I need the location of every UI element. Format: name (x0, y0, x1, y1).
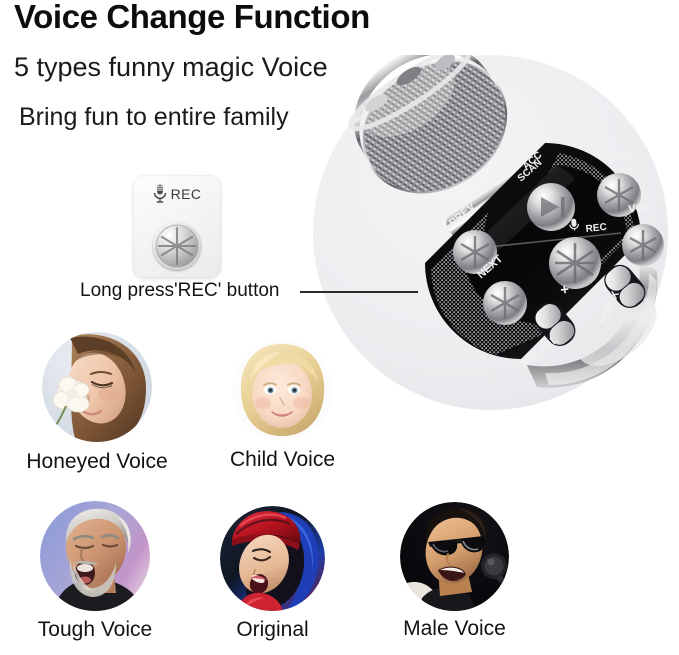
mic-button-next (483, 281, 527, 325)
woman-smelling-white-flower-photo (42, 332, 152, 442)
long-press-caption: Long press'REC' button (80, 280, 279, 302)
woman-red-cap-singing-photo (220, 506, 325, 611)
label-rec: REC (585, 222, 607, 235)
microphone-illustration: PREV NEXT ACC SCAN REC VOL+ VOL- MICVOL … (313, 55, 668, 410)
older-man-grey-beard-singing-photo (40, 501, 150, 611)
rec-callout-card: REC (133, 175, 221, 278)
voice-item-honeyed: Honeyed Voice (42, 332, 152, 442)
rec-card-label: REC (171, 187, 202, 201)
page-title: Voice Change Function (14, 0, 370, 36)
mic-button-vol-down (622, 224, 664, 266)
rec-knob-icon (153, 222, 201, 270)
voice-label-original: Original (236, 618, 308, 642)
microphone-icon (153, 184, 167, 203)
voice-label-honeyed: Honeyed Voice (26, 450, 167, 474)
callout-leader-line (300, 291, 418, 293)
mic-button-rec (549, 237, 601, 289)
voice-item-child: Child Voice (232, 340, 333, 441)
label-volup: VOL+ (600, 150, 631, 166)
rec-card-header: REC (133, 184, 221, 203)
voice-label-child: Child Voice (230, 448, 335, 472)
voice-label-male: Male Voice (403, 617, 506, 641)
label-minus: - (579, 303, 586, 321)
voice-item-original: Original (220, 506, 325, 611)
man-sunglasses-singing-photo (400, 502, 509, 611)
voice-label-tough: Tough Voice (38, 618, 152, 642)
infographic-canvas: Voice Change Function 5 types funny magi… (0, 0, 679, 655)
subtitle-line-1: 5 types funny magic Voice (14, 52, 328, 83)
voice-item-male: Male Voice (400, 502, 509, 611)
voice-item-tough: Tough Voice (40, 501, 150, 611)
mic-button-acc-scan (527, 183, 575, 231)
blonde-young-girl-smiling-photo (232, 340, 333, 441)
subtitle-line-2: Bring fun to entire family (19, 103, 289, 132)
